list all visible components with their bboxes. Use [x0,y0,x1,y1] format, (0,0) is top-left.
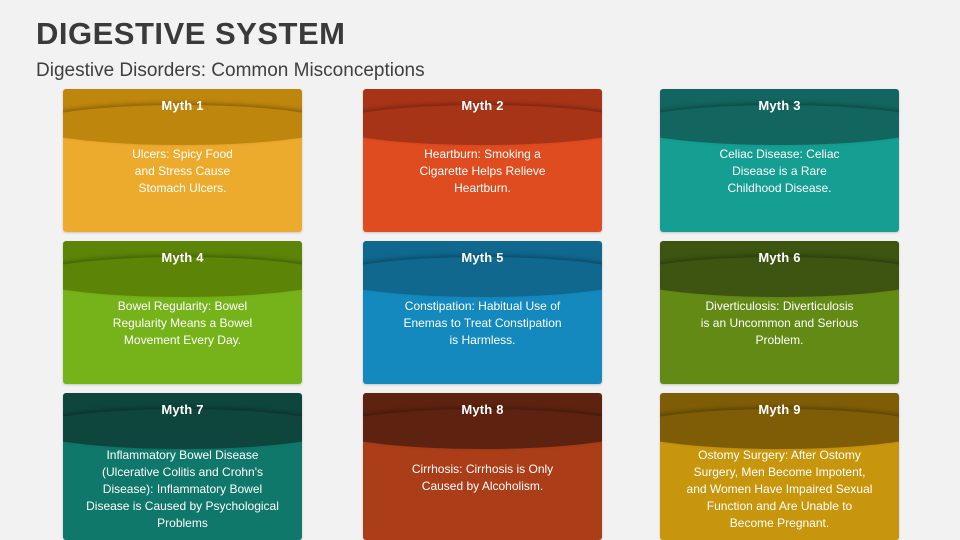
myth-card-title: Myth 5 [363,250,602,265]
myth-card[interactable]: Myth 1 Ulcers: Spicy Food and Stress Cau… [63,89,302,232]
myth-card-header: Myth 6 [660,241,899,277]
myth-card-header: Myth 1 [63,89,302,125]
myth-card-header: Myth 3 [660,89,899,125]
myth-card[interactable]: Myth 2 Heartburn: Smoking a Cigarette He… [363,89,602,232]
myth-card[interactable]: Myth 3 Celiac Disease: Celiac Disease is… [660,89,899,232]
myth-card-title: Myth 8 [363,402,602,417]
myth-card-header: Myth 9 [660,393,899,429]
myth-card-title: Myth 3 [660,98,899,113]
myth-card-header: Myth 4 [63,241,302,277]
myth-card-title: Myth 1 [63,98,302,113]
myth-card-header: Myth 5 [363,241,602,277]
myth-card[interactable]: Myth 6 Diverticulosis: Diverticulosis is… [660,241,899,384]
myth-card[interactable]: Myth 9 Ostomy Surgery: After Ostomy Surg… [660,393,899,540]
myth-card[interactable]: Myth 8 Cirrhosis: Cirrhosis is Only Caus… [363,393,602,540]
myth-card-title: Myth 2 [363,98,602,113]
myth-card-title: Myth 7 [63,402,302,417]
myth-card[interactable]: Myth 4 Bowel Regularity: Bowel Regularit… [63,241,302,384]
slide-header: DIGESTIVE SYSTEM Digestive Disorders: Co… [36,14,916,84]
page-subtitle: Digestive Disorders: Common Misconceptio… [36,58,916,84]
myth-card-header: Myth 2 [363,89,602,125]
myth-card-header: Myth 8 [363,393,602,429]
myth-card-title: Myth 4 [63,250,302,265]
myth-card[interactable]: Myth 5 Constipation: Habitual Use of Ene… [363,241,602,384]
slide-canvas: DIGESTIVE SYSTEM Digestive Disorders: Co… [0,0,960,540]
myth-card[interactable]: Myth 7 Inflammatory Bowel Disease (Ulcer… [63,393,302,540]
myth-card-title: Myth 6 [660,250,899,265]
page-title: DIGESTIVE SYSTEM [36,14,916,54]
myth-card-grid: Myth 1 Ulcers: Spicy Food and Stress Cau… [63,89,903,540]
myth-card-header: Myth 7 [63,393,302,429]
myth-card-title: Myth 9 [660,402,899,417]
